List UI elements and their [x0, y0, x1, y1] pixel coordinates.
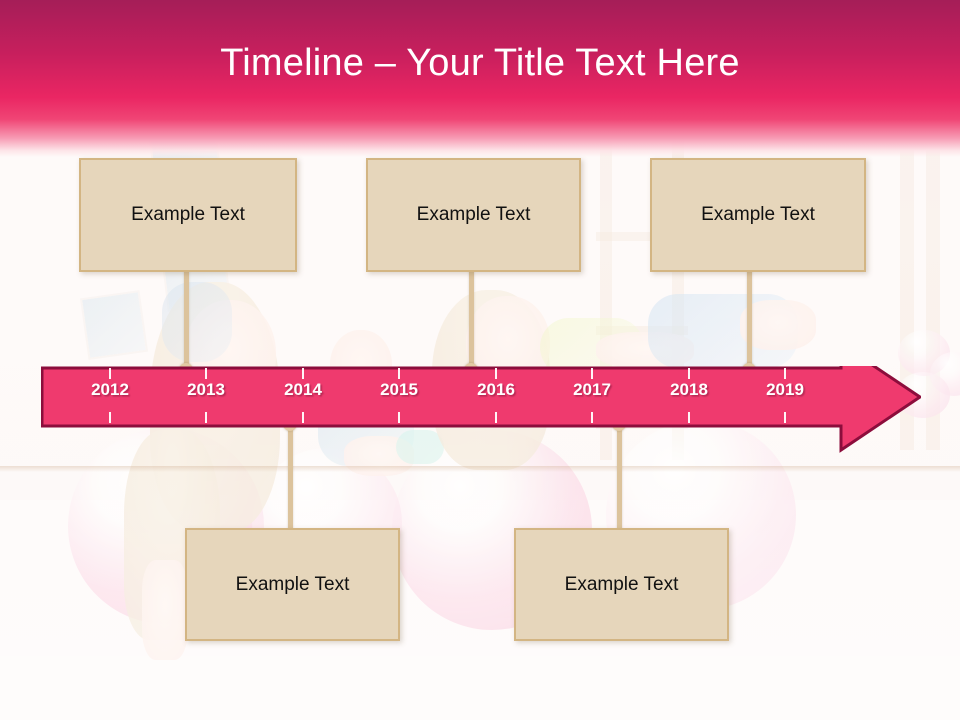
tick-mark-bottom — [688, 412, 690, 423]
callout-box-2019[interactable]: Example Text — [650, 158, 866, 272]
callout-box-2017[interactable]: Example Text — [514, 528, 729, 641]
callout-box-2014[interactable]: Example Text — [185, 528, 400, 641]
tick-mark-bottom — [591, 412, 593, 423]
tick-mark-bottom — [495, 412, 497, 423]
callout-stick — [747, 268, 752, 372]
callout-stick — [184, 268, 189, 372]
callout-label: Example Text — [236, 574, 350, 596]
tick-mark-top — [205, 368, 207, 379]
tick-mark-top — [688, 368, 690, 379]
callout-label: Example Text — [701, 204, 815, 226]
page-title: Timeline – Your Title Text Here — [0, 42, 960, 85]
callout-label: Example Text — [417, 204, 531, 226]
tick-mark-top — [591, 368, 593, 379]
year-label-2012[interactable]: 2012 — [91, 380, 129, 400]
callout-box-2013[interactable]: Example Text — [79, 158, 297, 272]
year-labels: 20122013201420152016201720182019 — [41, 366, 921, 428]
tick-mark-bottom — [398, 412, 400, 423]
tick-mark-bottom — [205, 412, 207, 423]
tick-mark-bottom — [109, 412, 111, 423]
year-label-2017[interactable]: 2017 — [573, 380, 611, 400]
callout-label: Example Text — [565, 574, 679, 596]
year-label-2019[interactable]: 2019 — [766, 380, 804, 400]
timeline-arrow: 20122013201420152016201720182019 — [41, 366, 921, 490]
slide-canvas: Timeline – Your Title Text Here 20122013… — [0, 0, 960, 720]
tick-mark-top — [398, 368, 400, 379]
year-label-2014[interactable]: 2014 — [284, 380, 322, 400]
title-banner: Timeline – Your Title Text Here — [0, 0, 960, 157]
tick-mark-top — [302, 368, 304, 379]
year-label-2013[interactable]: 2013 — [187, 380, 225, 400]
callout-label: Example Text — [131, 204, 245, 226]
tick-mark-top — [784, 368, 786, 379]
tick-mark-top — [495, 368, 497, 379]
year-label-2016[interactable]: 2016 — [477, 380, 515, 400]
year-label-2018[interactable]: 2018 — [670, 380, 708, 400]
tick-mark-bottom — [784, 412, 786, 423]
tick-mark-top — [109, 368, 111, 379]
tick-mark-bottom — [302, 412, 304, 423]
callout-box-2016[interactable]: Example Text — [366, 158, 581, 272]
callout-stick — [469, 268, 474, 372]
year-label-2015[interactable]: 2015 — [380, 380, 418, 400]
